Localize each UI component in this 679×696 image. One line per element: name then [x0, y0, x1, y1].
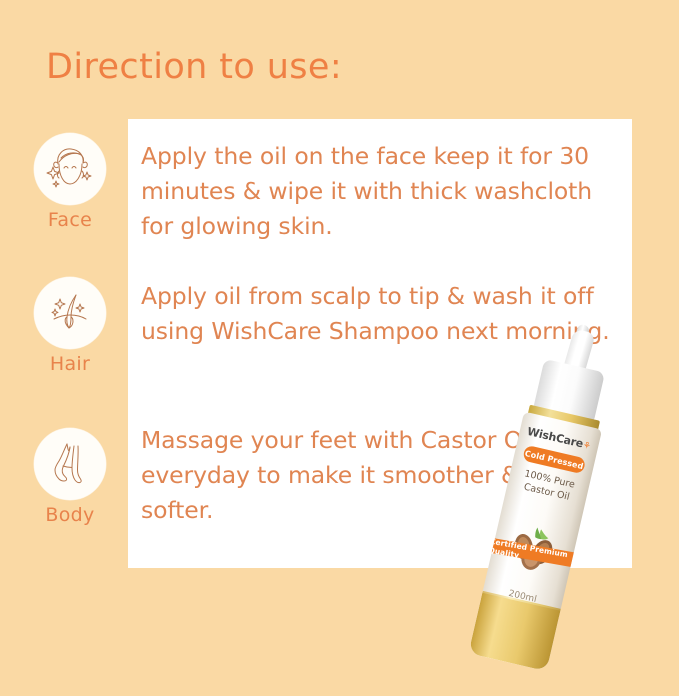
- face-icon-circle: [34, 133, 106, 205]
- step-icon-face: Face: [20, 133, 120, 231]
- hair-icon-circle: [34, 277, 106, 349]
- step-icon-body: Body: [20, 428, 120, 526]
- step-label-body: Body: [20, 504, 120, 526]
- step-label-hair: Hair: [20, 353, 120, 375]
- step-label-face: Face: [20, 209, 120, 231]
- step-icon-hair: Hair: [20, 277, 120, 375]
- icon-column: Face Hair: [0, 0, 128, 679]
- brand-mark-icon: ⚘: [582, 441, 592, 453]
- instruction-text-face: Apply the oil on the face keep it for 30…: [141, 139, 626, 244]
- bottle-body: WishCare⚘ Cold Pressed 100% Pure Castor …: [468, 412, 602, 672]
- promo-graphic: Direction to use:: [0, 0, 679, 679]
- hair-follicle-sparkle-icon: [42, 285, 98, 341]
- legs-feet-icon: [42, 436, 98, 492]
- body-icon-circle: [34, 428, 106, 500]
- face-towel-sparkle-icon: [42, 141, 98, 197]
